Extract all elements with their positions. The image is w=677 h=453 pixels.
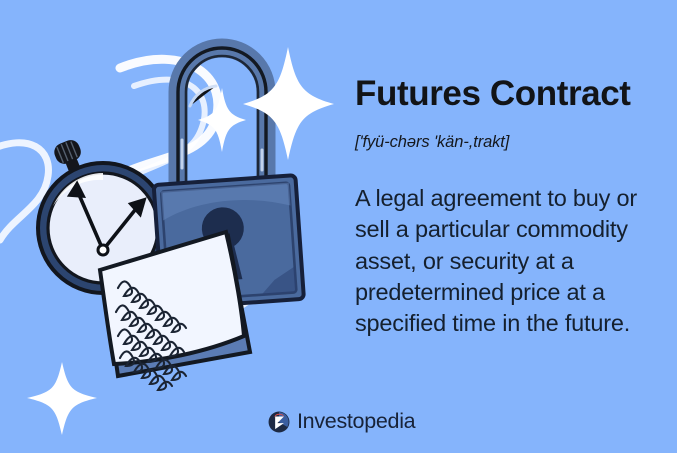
pronunciation: ['fyü-chərs 'kän-,trakt] xyxy=(355,133,509,152)
investopedia-logo: Investopedia xyxy=(268,411,415,433)
investopedia-definition-card: Futures Contract ['fyü-chərs 'kän-,trakt… xyxy=(0,0,677,453)
investopedia-z-mark-icon xyxy=(268,411,290,433)
page-title: Futures Contract xyxy=(355,76,631,111)
text-column: Futures Contract ['fyü-chərs 'kän-,trakt… xyxy=(355,0,677,453)
illustration xyxy=(0,0,340,453)
definition-text: A legal agreement to buy or sell a parti… xyxy=(355,183,667,339)
investopedia-wordmark: Investopedia xyxy=(297,411,415,433)
